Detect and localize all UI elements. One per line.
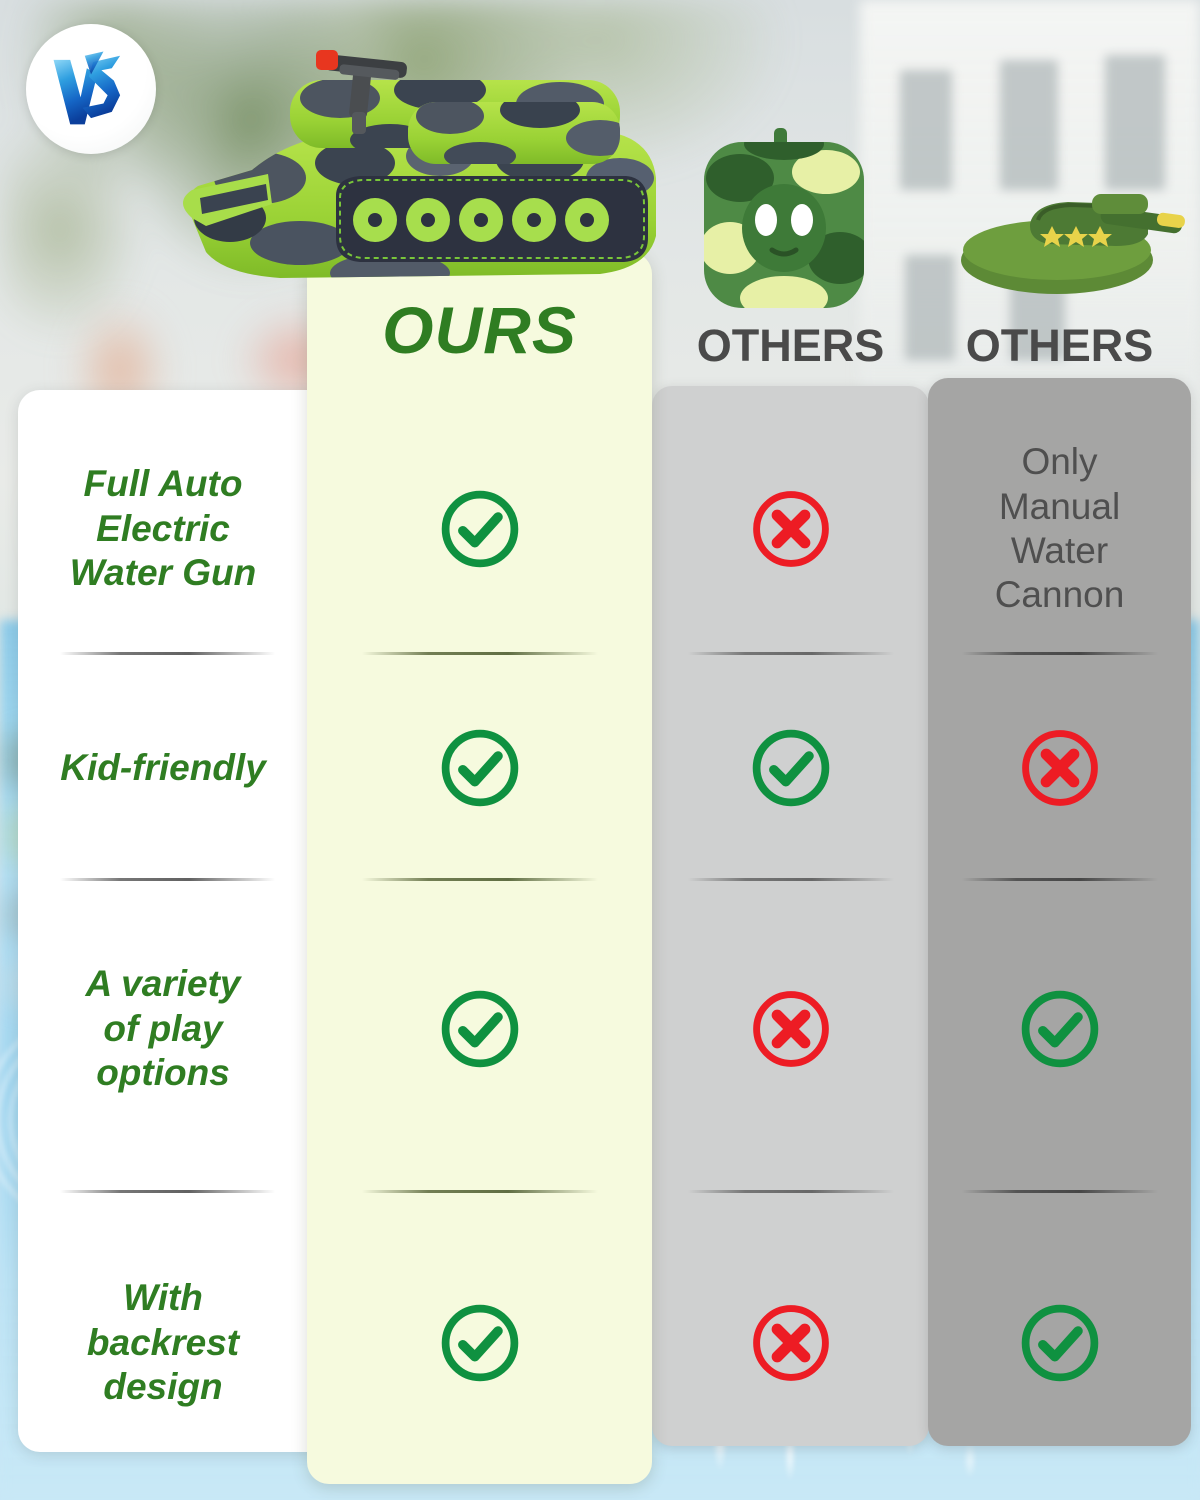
other2-cell bbox=[928, 678, 1191, 858]
feature-label-cell: Full Auto Electric Water Gun bbox=[18, 418, 308, 640]
other1-cell bbox=[652, 418, 929, 640]
other2-cell bbox=[928, 1240, 1191, 1446]
other2-cell: Only Manual Water Cannon bbox=[928, 418, 1191, 640]
ours-cell bbox=[307, 678, 652, 858]
comparison-row: Kid-friendly bbox=[0, 678, 1200, 858]
vs-badge-icon bbox=[39, 37, 143, 141]
row-divider bbox=[60, 1190, 275, 1193]
row-divider bbox=[688, 878, 894, 881]
check-icon bbox=[1017, 1300, 1103, 1386]
other1-cell bbox=[652, 1240, 929, 1446]
row-divider bbox=[962, 1190, 1158, 1193]
other2-product-image bbox=[952, 168, 1192, 298]
check-icon bbox=[437, 986, 523, 1072]
other1-product-image bbox=[700, 128, 868, 310]
cross-icon bbox=[1017, 725, 1103, 811]
feature-label-cell: Kid-friendly bbox=[18, 678, 308, 858]
cross-icon bbox=[748, 986, 834, 1072]
feature-label: A variety of play options bbox=[72, 962, 255, 1095]
ours-cell bbox=[307, 418, 652, 640]
row-divider bbox=[60, 652, 275, 655]
other1-cell bbox=[652, 678, 929, 858]
comparison-row: With backrest design bbox=[0, 1240, 1200, 1446]
check-icon bbox=[437, 725, 523, 811]
row-divider bbox=[60, 878, 275, 881]
feature-label-cell: A variety of play options bbox=[18, 918, 308, 1140]
row-divider bbox=[362, 878, 598, 881]
row-divider bbox=[362, 652, 598, 655]
ours-cell bbox=[307, 1240, 652, 1446]
row-divider bbox=[962, 652, 1158, 655]
comparison-row: Full Auto Electric Water Gun Only Manual… bbox=[0, 418, 1200, 640]
cross-icon bbox=[748, 1300, 834, 1386]
ours-cell bbox=[307, 918, 652, 1140]
row-divider bbox=[362, 1190, 598, 1193]
check-icon bbox=[1017, 986, 1103, 1072]
feature-label: With backrest design bbox=[73, 1276, 253, 1409]
check-icon bbox=[437, 486, 523, 572]
vs-badge bbox=[26, 24, 156, 154]
check-icon bbox=[748, 725, 834, 811]
comparison-row: A variety of play options bbox=[0, 918, 1200, 1140]
other2-note: Only Manual Water Cannon bbox=[983, 440, 1137, 618]
feature-label-cell: With backrest design bbox=[18, 1240, 308, 1446]
feature-label: Full Auto Electric Water Gun bbox=[56, 462, 270, 595]
check-icon bbox=[437, 1300, 523, 1386]
ours-product-image bbox=[140, 28, 680, 313]
cross-icon bbox=[748, 486, 834, 572]
row-divider bbox=[688, 652, 894, 655]
other1-cell bbox=[652, 918, 929, 1140]
feature-label: Kid-friendly bbox=[46, 746, 280, 790]
row-divider bbox=[962, 878, 1158, 881]
other2-cell bbox=[928, 918, 1191, 1140]
row-divider bbox=[688, 1190, 894, 1193]
